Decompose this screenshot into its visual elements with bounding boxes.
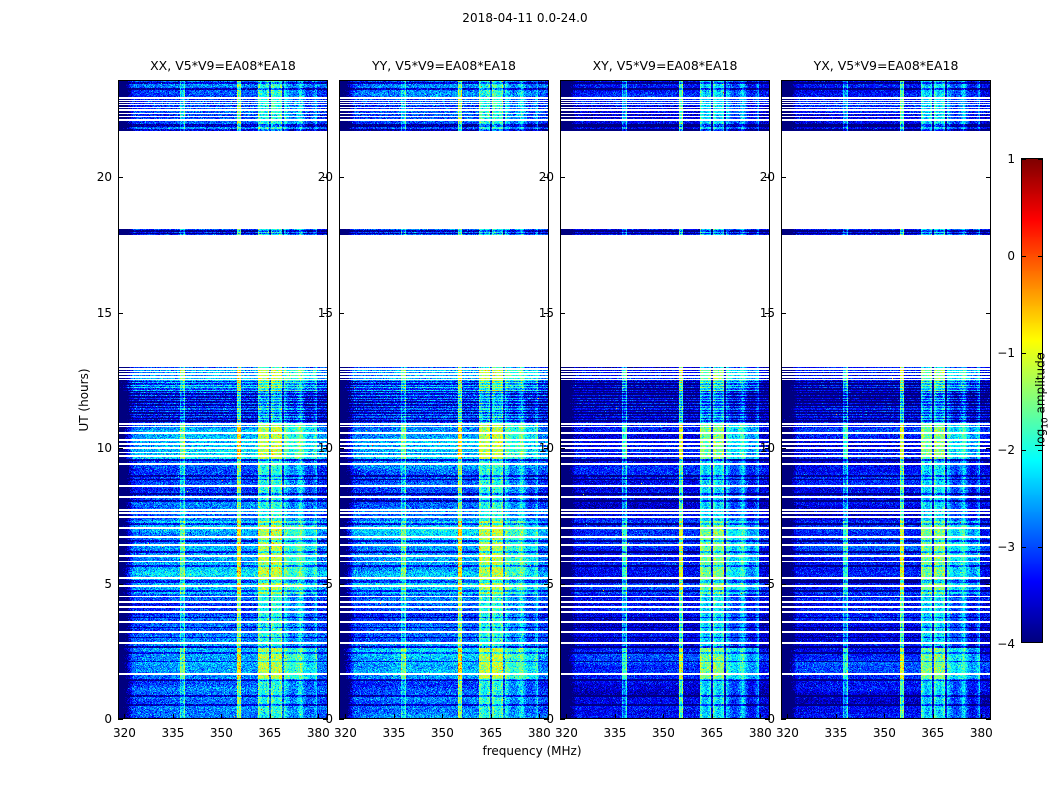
colorbar-tick-mark — [1038, 256, 1042, 257]
x-tick-mark — [270, 714, 271, 719]
x-tick-label: 380 — [749, 726, 772, 740]
x-tick-label: 320 — [113, 726, 136, 740]
y-tick-label: 5 — [325, 577, 333, 591]
x-tick-label: 335 — [824, 726, 847, 740]
colorbar-tick-label: 1 — [1007, 152, 1015, 166]
y-tick-label: 20 — [539, 170, 554, 184]
panel-frame — [118, 80, 328, 719]
colorbar-label-sub: 10 — [1041, 417, 1050, 428]
y-tick-label: 0 — [104, 712, 112, 726]
y-tick-label: 10 — [760, 441, 775, 455]
x-tick-mark — [712, 714, 713, 719]
colorbar-tick-mark — [1022, 353, 1026, 354]
y-tick-label: 20 — [318, 170, 333, 184]
y-tick-mark — [560, 719, 565, 720]
y-tick-mark — [339, 177, 344, 178]
y-tick-mark — [560, 313, 565, 314]
x-tick-mark — [566, 714, 567, 719]
x-tick-mark — [836, 714, 837, 719]
y-tick-mark — [118, 584, 123, 585]
colorbar-tick-mark — [1038, 159, 1042, 160]
panel-frame — [560, 80, 770, 719]
y-tick-mark — [781, 313, 786, 314]
panel-xy: XY, V5*V9=EA08*EA18 05101520320335350365… — [560, 80, 770, 719]
panel-title-xy: XY, V5*V9=EA08*EA18 — [593, 58, 738, 73]
x-tick-mark — [760, 714, 761, 719]
x-tick-mark — [539, 714, 540, 719]
y-axis-label: UT (hours) — [77, 368, 91, 431]
x-tick-label: 320 — [555, 726, 578, 740]
y-tick-mark — [560, 448, 565, 449]
x-tick-label: 320 — [334, 726, 357, 740]
y-tick-label: 20 — [97, 170, 112, 184]
x-tick-label: 335 — [161, 726, 184, 740]
y-tick-mark — [560, 584, 565, 585]
panel-xx: XX, V5*V9=EA08*EA18 05101520320335350365… — [118, 80, 328, 719]
colorbar-tick-mark — [1022, 547, 1026, 548]
y-tick-label: 5 — [767, 577, 775, 591]
y-tick-label: 10 — [539, 441, 554, 455]
colorbar-tick-label: −2 — [997, 443, 1015, 457]
x-tick-label: 380 — [528, 726, 551, 740]
x-tick-label: 380 — [307, 726, 330, 740]
x-tick-mark — [884, 714, 885, 719]
y-tick-label: 10 — [318, 441, 333, 455]
colorbar-tick-mark — [1022, 450, 1026, 451]
x-tick-label: 335 — [382, 726, 405, 740]
y-tick-mark — [781, 448, 786, 449]
colorbar-tick-mark — [1038, 547, 1042, 548]
y-tick-mark — [118, 448, 123, 449]
y-tick-mark — [339, 719, 344, 720]
panel-frame — [339, 80, 549, 719]
y-tick-label: 15 — [760, 306, 775, 320]
y-tick-mark — [986, 584, 991, 585]
x-tick-mark — [221, 714, 222, 719]
x-tick-label: 380 — [970, 726, 993, 740]
x-tick-mark — [394, 714, 395, 719]
panel-title-xx: XX, V5*V9=EA08*EA18 — [150, 58, 296, 73]
y-tick-mark — [986, 313, 991, 314]
panel-title-yx: YX, V5*V9=EA08*EA18 — [814, 58, 959, 73]
y-tick-label: 10 — [97, 441, 112, 455]
x-tick-label: 350 — [210, 726, 233, 740]
y-tick-mark — [986, 177, 991, 178]
panel-frame — [781, 80, 991, 719]
x-tick-label: 320 — [776, 726, 799, 740]
x-tick-mark — [345, 714, 346, 719]
x-tick-mark — [491, 714, 492, 719]
colorbar-tick-label: −3 — [997, 540, 1015, 554]
x-tick-mark — [318, 714, 319, 719]
y-tick-mark — [560, 177, 565, 178]
x-tick-mark — [787, 714, 788, 719]
x-tick-label: 365 — [921, 726, 944, 740]
colorbar-label-tail: amplitude — [1033, 353, 1047, 417]
y-tick-label: 5 — [104, 577, 112, 591]
x-tick-mark — [663, 714, 664, 719]
x-tick-mark — [933, 714, 934, 719]
y-tick-label: 0 — [546, 712, 554, 726]
y-tick-mark — [986, 719, 991, 720]
colorbar-tick-mark — [1038, 450, 1042, 451]
y-tick-mark — [118, 313, 123, 314]
y-tick-label: 0 — [325, 712, 333, 726]
y-tick-mark — [781, 719, 786, 720]
x-tick-mark — [981, 714, 982, 719]
y-tick-mark — [986, 448, 991, 449]
y-tick-mark — [339, 313, 344, 314]
colorbar-tick-mark — [1022, 159, 1026, 160]
colorbar-tick-label: −4 — [997, 637, 1015, 651]
colorbar-tick-mark — [1022, 256, 1026, 257]
y-tick-mark — [781, 584, 786, 585]
colorbar-tick-label: −1 — [997, 346, 1015, 360]
y-tick-mark — [118, 177, 123, 178]
colorbar-tick-label: 0 — [1007, 249, 1015, 263]
x-tick-mark — [442, 714, 443, 719]
x-tick-mark — [173, 714, 174, 719]
y-tick-label: 0 — [767, 712, 775, 726]
panel-title-yy: YY, V5*V9=EA08*EA18 — [372, 58, 516, 73]
y-tick-label: 15 — [539, 306, 554, 320]
y-tick-label: 5 — [546, 577, 554, 591]
figure-suptitle: 2018-04-11 0.0-24.0 — [0, 11, 1050, 25]
y-tick-label: 15 — [97, 306, 112, 320]
x-tick-label: 350 — [431, 726, 454, 740]
colorbar-label: log10 amplitude — [1033, 353, 1050, 447]
y-tick-mark — [339, 584, 344, 585]
y-tick-mark — [118, 719, 123, 720]
x-axis-label: frequency (MHz) — [482, 744, 581, 758]
x-tick-label: 365 — [258, 726, 281, 740]
y-tick-mark — [339, 448, 344, 449]
y-tick-label: 20 — [760, 170, 775, 184]
panel-yx: YX, V5*V9=EA08*EA18 05101520320335350365… — [781, 80, 991, 719]
figure-root: 2018-04-11 0.0-24.0 UT (hours) frequency… — [0, 0, 1050, 800]
colorbar-label-main: log — [1033, 429, 1047, 447]
x-tick-label: 365 — [479, 726, 502, 740]
x-tick-label: 350 — [873, 726, 896, 740]
panel-yy: YY, V5*V9=EA08*EA18 05101520320335350365… — [339, 80, 549, 719]
x-tick-label: 365 — [700, 726, 723, 740]
y-tick-label: 15 — [318, 306, 333, 320]
x-tick-label: 350 — [652, 726, 675, 740]
x-tick-mark — [124, 714, 125, 719]
x-tick-mark — [615, 714, 616, 719]
x-tick-label: 335 — [603, 726, 626, 740]
y-tick-mark — [781, 177, 786, 178]
